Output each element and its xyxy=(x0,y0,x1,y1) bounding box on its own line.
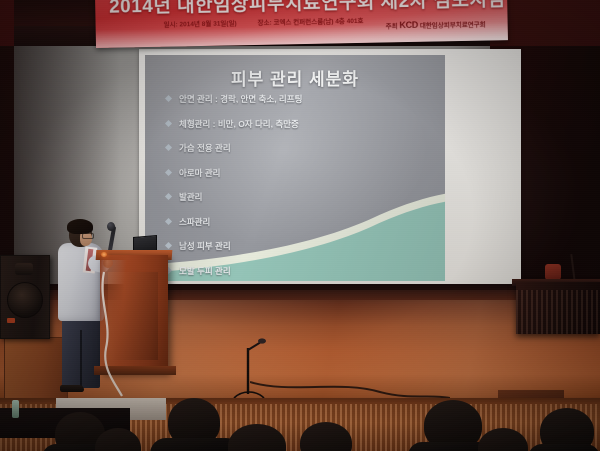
banner-date: 일시: 2014년 8월 31일(일) xyxy=(163,17,236,28)
table-object xyxy=(545,264,561,280)
microphone-icon xyxy=(107,222,115,231)
event-banner: 2014년 대한임상피부치료연구회 제2차 심포지엄 일시: 2014년 8월 … xyxy=(95,0,508,48)
banner-host-label: 주최 xyxy=(386,23,398,30)
banner-place: 장소: 코엑스 컨퍼런스룸(남) 4층 401호 xyxy=(257,15,363,27)
side-table-skirt xyxy=(516,290,600,334)
presenter-leg-split xyxy=(80,330,82,386)
presenter-shoe xyxy=(60,385,84,392)
water-bottle xyxy=(12,400,19,418)
conference-photo: 피부 관리 세분화 안면 관리 : 경락, 안면 축소, 리프팅 체형관리 : … xyxy=(0,0,600,451)
banner-host-name: 대한임상피부치료연구회 xyxy=(420,22,486,30)
pa-loudspeaker xyxy=(0,255,50,339)
speaker-logo xyxy=(7,318,15,323)
floor-cable xyxy=(96,270,166,400)
presenter-hair xyxy=(67,219,93,234)
banner-host: 주최 KCD 대한임상피부치료연구회 xyxy=(386,19,486,31)
tweeter-icon xyxy=(15,263,33,275)
glasses-icon xyxy=(82,233,94,239)
banner-host-mark: KCD xyxy=(399,20,418,30)
slide-shading xyxy=(145,55,445,281)
speaker-pedestal xyxy=(4,337,68,399)
woofer-icon xyxy=(7,282,43,318)
podium-indicator-light xyxy=(101,252,107,257)
presentation-slide: 피부 관리 세분화 안면 관리 : 경락, 안면 축소, 리프팅 체형관리 : … xyxy=(145,55,445,281)
audience-shoulders xyxy=(528,444,600,451)
